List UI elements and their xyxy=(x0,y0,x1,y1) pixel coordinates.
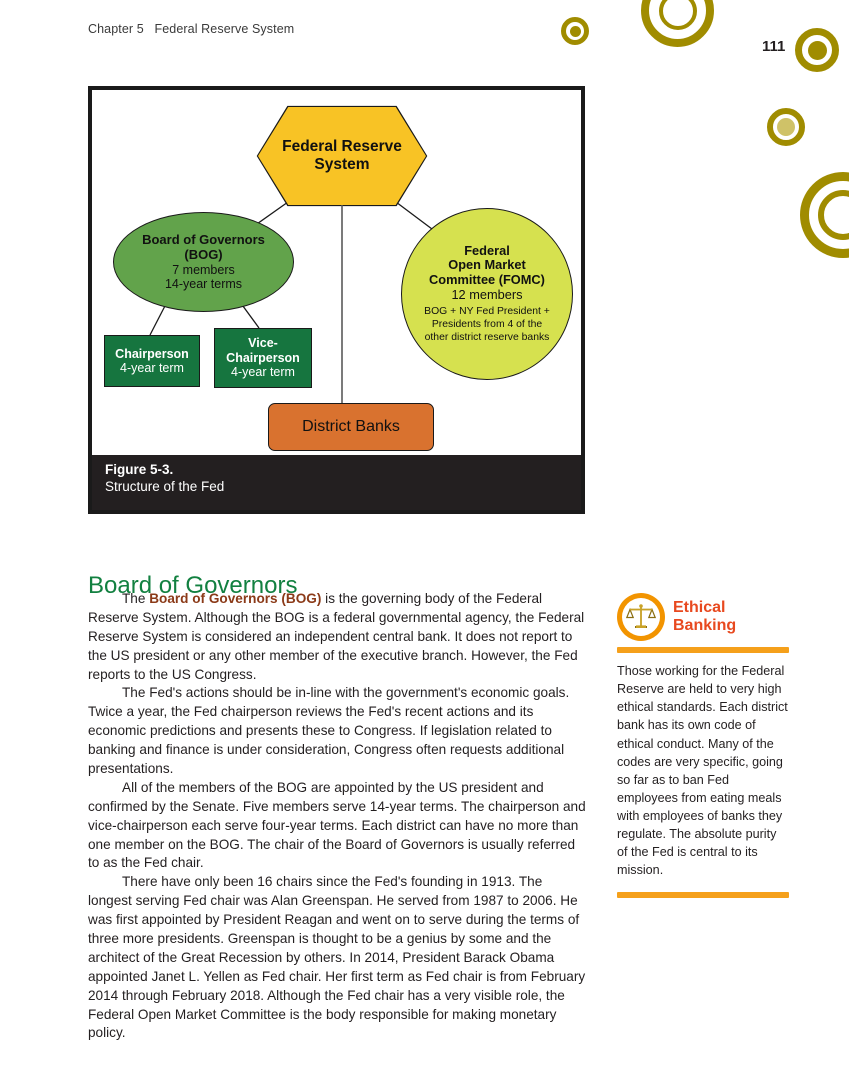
node-line: 12 members xyxy=(451,288,522,303)
figure-caption-subtitle: Structure of the Fed xyxy=(105,479,568,494)
decorative-circle-icon xyxy=(767,108,805,146)
figure-caption: Figure 5-3. Structure of the Fed xyxy=(92,455,581,510)
node-board-of-governors: Board of Governors (BOG) 7 members 14-ye… xyxy=(113,212,294,312)
feature-divider-bottom xyxy=(617,892,789,898)
feature-title-line-2: Banking xyxy=(673,617,736,635)
ethical-banking-feature: Ethical Banking Those working for the Fe… xyxy=(617,592,789,898)
node-line: Presidents from 4 of the xyxy=(432,318,542,331)
feature-title-line-1: Ethical xyxy=(673,599,736,617)
node-line: Chairperson xyxy=(226,351,300,365)
balance-scales-icon xyxy=(617,593,665,641)
node-line: Federal xyxy=(464,244,510,259)
node-line: District Banks xyxy=(302,418,400,436)
figure-caption-title: Figure 5-3. xyxy=(105,462,568,477)
node-vice-chairperson: Vice- Chairperson 4-year term xyxy=(214,328,312,388)
node-federal-reserve-system: Federal Reserve System xyxy=(258,107,426,205)
figure-diagram-canvas: Federal Reserve System Board of Governor… xyxy=(92,90,581,460)
decorative-circle-icon xyxy=(800,172,849,258)
running-head: Chapter 5 Federal Reserve System xyxy=(88,22,294,36)
scales-glyph xyxy=(625,601,657,633)
figure-5-3: Federal Reserve System Board of Governor… xyxy=(88,86,585,514)
node-line: 14-year terms xyxy=(165,277,242,291)
decorative-circle-icon xyxy=(795,28,839,72)
node-line: Chairperson xyxy=(115,347,189,361)
paragraph-3: All of the members of the BOG are appoin… xyxy=(88,779,588,873)
node-line: (BOG) xyxy=(184,248,222,263)
node-line: Federal Reserve xyxy=(282,138,402,156)
paragraph-2: The Fed's actions should be in-line with… xyxy=(88,684,588,778)
balance-scales-icon-inner xyxy=(622,598,660,636)
node-district-banks: District Banks xyxy=(268,403,434,451)
paragraph-4: There have only been 16 chairs since the… xyxy=(88,873,588,1043)
node-line: 7 members xyxy=(172,263,235,277)
key-term-bog: Board of Governors (BOG) xyxy=(149,591,321,606)
node-line: Board of Governors xyxy=(142,233,265,248)
decorative-circle-icon xyxy=(641,0,714,47)
node-line: Committee (FOMC) xyxy=(429,273,545,288)
node-line: other district reserve banks xyxy=(425,331,550,344)
node-line: 4-year term xyxy=(231,365,295,379)
decorative-circle-icon xyxy=(561,17,589,45)
node-fomc: Federal Open Market Committee (FOMC) 12 … xyxy=(401,208,573,380)
body-text-column: The Board of Governors (BOG) is the gove… xyxy=(88,590,588,1043)
node-line: 4-year term xyxy=(120,361,184,375)
paragraph-1: The Board of Governors (BOG) is the gove… xyxy=(88,590,588,684)
paragraph-1-lead: The xyxy=(122,591,149,606)
feature-divider-top xyxy=(617,647,789,653)
node-line: System xyxy=(314,156,369,174)
node-line: Vice- xyxy=(248,336,278,350)
feature-title: Ethical Banking xyxy=(673,599,736,635)
feature-header: Ethical Banking xyxy=(617,592,789,642)
feature-body-text: Those working for the Federal Reserve ar… xyxy=(617,662,789,880)
node-chairperson: Chairperson 4-year term xyxy=(104,335,200,387)
node-line: Open Market xyxy=(448,258,526,273)
node-line: BOG + NY Fed President + xyxy=(424,305,550,318)
page-number: 111 xyxy=(762,38,785,55)
